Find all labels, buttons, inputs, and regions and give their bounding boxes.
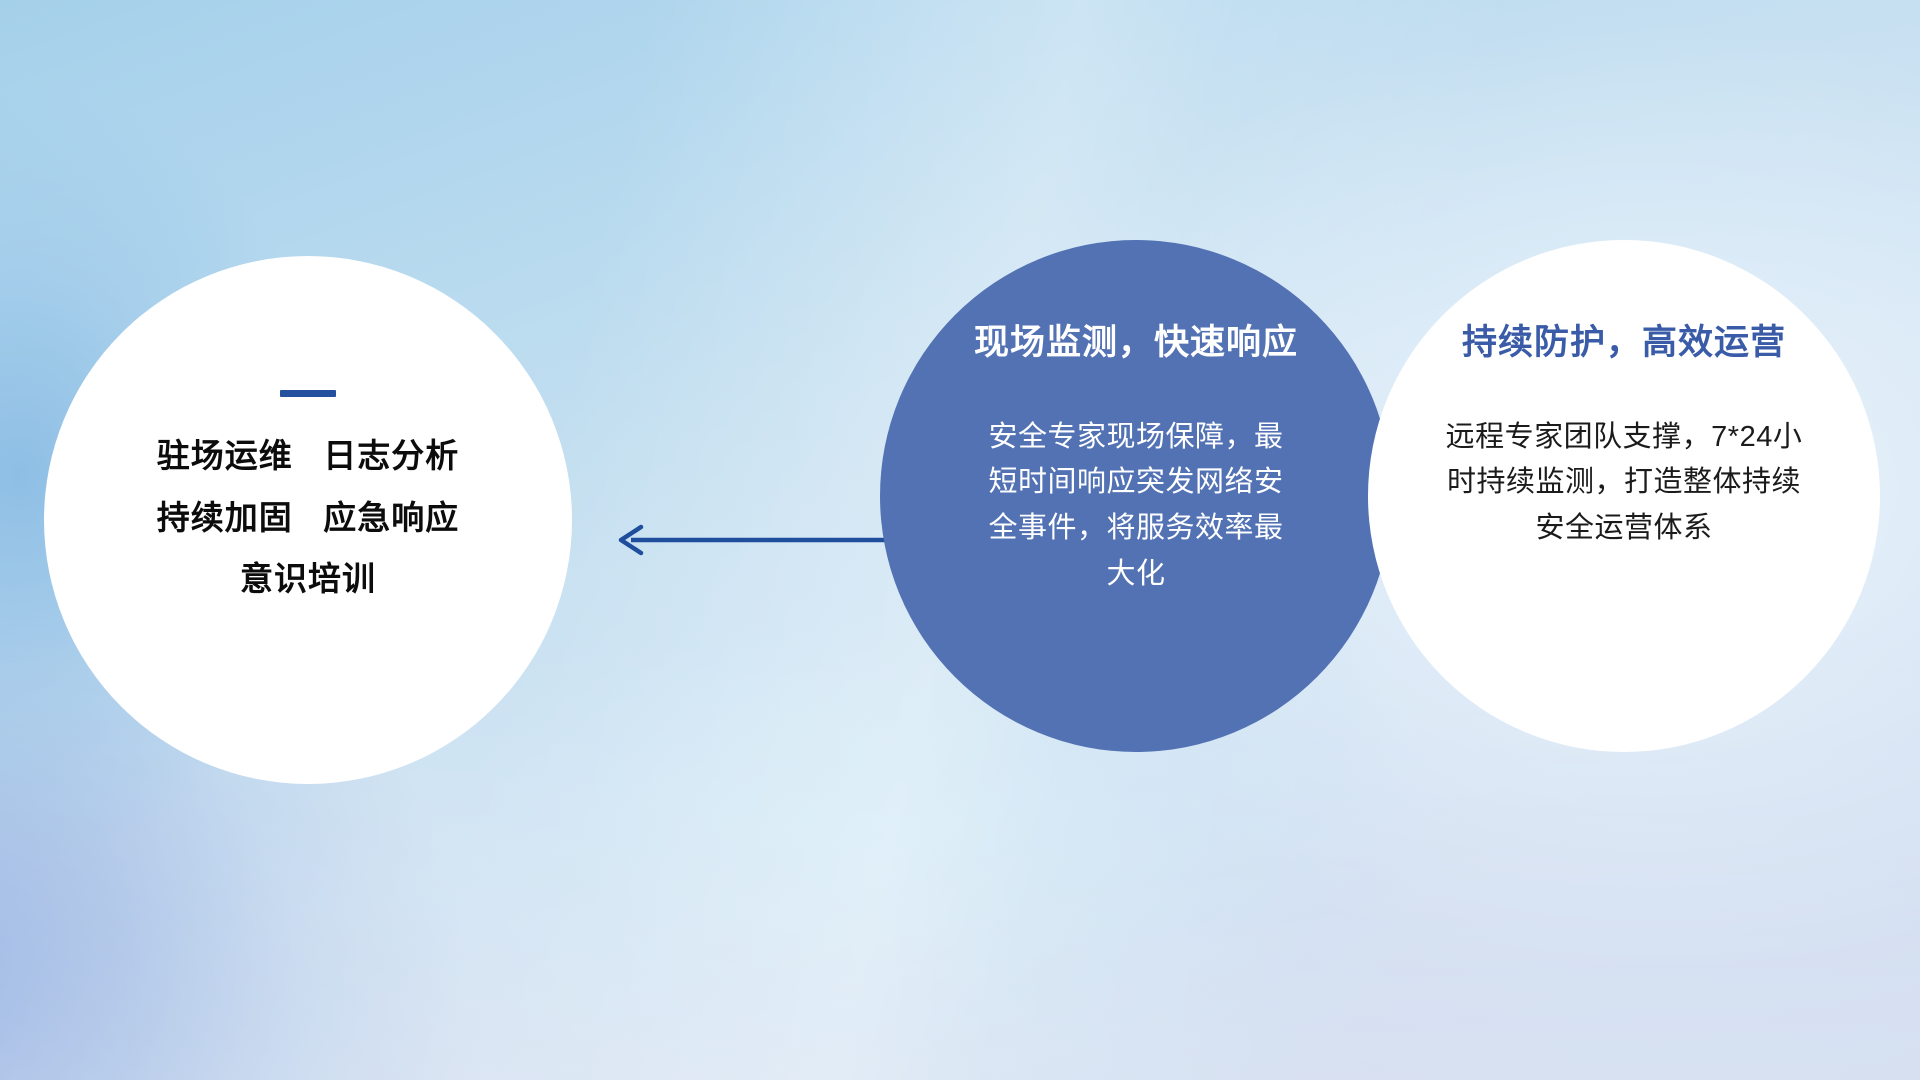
horizontal-dash-icon: [280, 390, 336, 397]
continuous-protection-body: 远程专家团队支撑，7*24小时持续监测，打造整体持续安全运营体系: [1434, 415, 1814, 552]
left-keywords-circle: 驻场运维 日志分析 持续加固 应急响应 意识培训: [44, 256, 572, 784]
arrow-left-icon: [605, 520, 895, 560]
onsite-monitoring-body: 安全专家现场保障，最短时间响应突发网络安全事件，将服务效率最大化: [981, 415, 1291, 598]
onsite-monitoring-title: 现场监测，快速响应: [974, 324, 1298, 363]
left-keyword-line: 持续加固 应急响应: [44, 501, 572, 536]
left-keyword-line: 驻场运维 日志分析: [44, 439, 572, 474]
left-keyword-line: 意识培训: [44, 562, 572, 597]
continuous-protection-title: 持续防护，高效运营: [1462, 324, 1786, 363]
left-keyword-list: 驻场运维 日志分析 持续加固 应急响应 意识培训: [44, 439, 572, 597]
continuous-protection-circle: 持续防护，高效运营 远程专家团队支撑，7*24小时持续监测，打造整体持续安全运营…: [1368, 240, 1880, 752]
onsite-monitoring-circle: 现场监测，快速响应 安全专家现场保障，最短时间响应突发网络安全事件，将服务效率最…: [880, 240, 1392, 752]
slide-canvas: 驻场运维 日志分析 持续加固 应急响应 意识培训 现场监测，快速响应 安全专家现…: [0, 0, 1920, 1080]
